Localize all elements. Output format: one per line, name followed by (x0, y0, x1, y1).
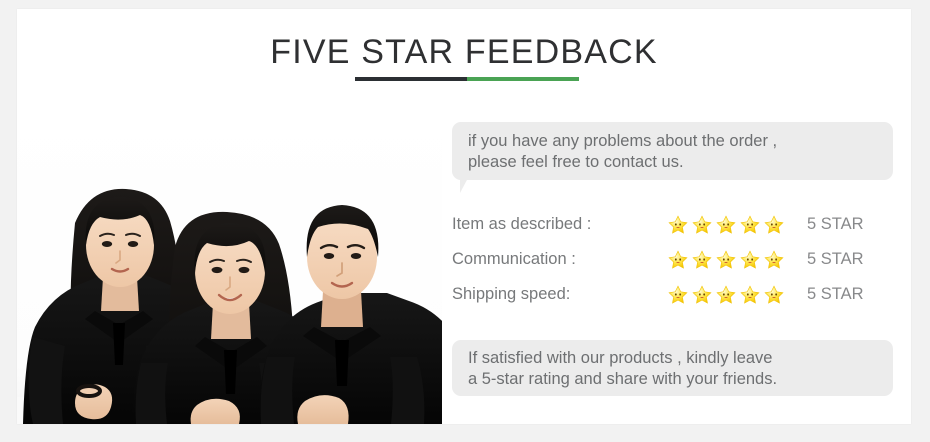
rating-label: Shipping speed: (452, 285, 668, 304)
contact-message-line-2: please feel free to contact us. (468, 152, 879, 173)
contact-message-bubble: if you have any problems about the order… (452, 122, 893, 180)
star-icon (692, 250, 712, 270)
satisfaction-note: If satisfied with our products , kindly … (452, 340, 893, 396)
title-underline-green-segment (467, 77, 579, 81)
bubble-tail (460, 178, 484, 193)
ratings-list: Item as described : 5 STAR Communication… (452, 207, 907, 312)
star-icon (716, 250, 736, 270)
page-title: FIVE STAR FEEDBACK (17, 31, 911, 73)
star-icon (740, 250, 760, 270)
rating-value: 5 STAR (807, 250, 864, 269)
contact-message-line-1: if you have any problems about the order… (468, 131, 879, 152)
star-icon (716, 285, 736, 305)
star-icon (764, 285, 784, 305)
star-icon (764, 215, 784, 235)
star-icon (692, 215, 712, 235)
rating-stars (668, 250, 807, 270)
content-card: FIVE STAR FEEDBACK (17, 9, 911, 424)
star-icon (764, 250, 784, 270)
star-icon (692, 285, 712, 305)
feedback-banner: FIVE STAR FEEDBACK (0, 0, 930, 442)
star-icon (716, 215, 736, 235)
star-icon (740, 215, 760, 235)
rating-stars (668, 285, 807, 305)
rating-value: 5 STAR (807, 215, 864, 234)
satisfaction-note-line-2: a 5-star rating and share with your frie… (468, 369, 879, 390)
team-photo (17, 105, 442, 424)
rating-stars (668, 215, 807, 235)
rating-value: 5 STAR (807, 285, 864, 304)
star-icon (740, 285, 760, 305)
rating-row: Communication : 5 STAR (452, 242, 907, 277)
rating-label: Item as described : (452, 215, 668, 234)
rating-row: Shipping speed: 5 STAR (452, 277, 907, 312)
title-underline-dark-segment (355, 77, 467, 81)
star-icon (668, 215, 688, 235)
star-icon (668, 250, 688, 270)
satisfaction-note-line-1: If satisfied with our products , kindly … (468, 348, 879, 369)
rating-label: Communication : (452, 250, 668, 269)
page-title-wrapper: FIVE STAR FEEDBACK (17, 31, 911, 73)
star-icon (668, 285, 688, 305)
rating-row: Item as described : 5 STAR (452, 207, 907, 242)
title-underline (355, 77, 579, 81)
